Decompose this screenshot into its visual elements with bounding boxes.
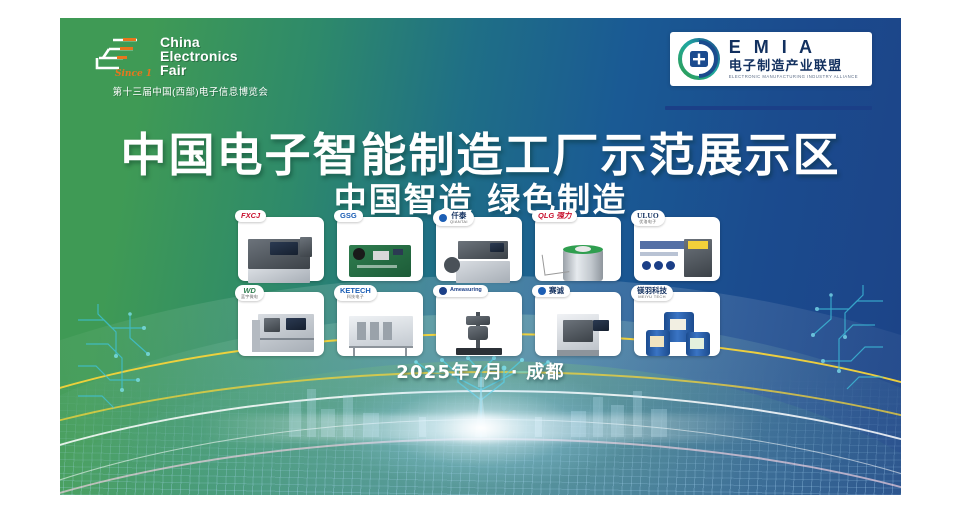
exhibitor-card[interactable]: QLG 强力 bbox=[535, 217, 621, 281]
exhibitor-badge: ULUO 优洛电子 bbox=[631, 210, 665, 226]
perspective-dot-grid bbox=[60, 371, 901, 495]
exhibitor-badge-sublabel: 蓝宇微电 bbox=[241, 295, 258, 299]
exhibitor-card[interactable]: GSG bbox=[337, 217, 423, 281]
exhibitor-product-image bbox=[442, 306, 516, 350]
emia-english: E M I A bbox=[729, 38, 858, 56]
emia-underline-bar bbox=[665, 106, 872, 110]
event-date: 2025年7月 · 成都 bbox=[60, 358, 901, 384]
poster-canvas: Since 1964 China Electronics Fair 第十三届中国… bbox=[60, 18, 901, 495]
cef-line-1: China bbox=[160, 35, 238, 49]
exhibitor-product-image bbox=[541, 231, 615, 275]
exhibitor-product-image bbox=[640, 306, 714, 350]
emia-wordmark: E M I A 电子制造产业联盟 ELECTRONIC MANUFACTURIN… bbox=[729, 38, 858, 79]
page-subtitle: 中国智造 绿色制造 bbox=[60, 173, 901, 221]
white-arc-lower bbox=[60, 419, 901, 495]
cef-wordmark: China Electronics Fair bbox=[160, 35, 238, 77]
cef-line-2: Electronics bbox=[160, 49, 238, 63]
cef-since-text: Since 1964 bbox=[115, 69, 151, 78]
exhibitor-badge-label: FXCJ bbox=[241, 212, 260, 220]
exhibitor-badge-icon bbox=[538, 287, 546, 295]
exhibitor-badge: 赛诚 bbox=[532, 285, 570, 297]
exhibitor-badge: GSG bbox=[334, 210, 363, 222]
cef-subtitle: 第十三届中国(西部)电子信息博览会 bbox=[93, 84, 288, 98]
emia-subtitle: ELECTRONIC MANUFACTURING INDUSTRY ALLIAN… bbox=[729, 75, 858, 79]
exhibitor-badge-sublabel: 科技电子 bbox=[347, 295, 364, 299]
exhibitor-badge-label: Ameasuring bbox=[450, 288, 482, 294]
center-glow bbox=[331, 368, 631, 488]
exhibitor-badge: KETECH 科技电子 bbox=[334, 285, 377, 301]
center-light-ray bbox=[201, 415, 761, 441]
exhibitor-badge: 仟泰 QIANTAI bbox=[433, 210, 474, 226]
exhibitor-product-image bbox=[442, 231, 516, 275]
exhibitor-badge-sublabel: QIANTAI bbox=[450, 220, 468, 224]
exhibitor-badge-sublabel: MEIYU TECH bbox=[638, 295, 666, 299]
exhibitor-card[interactable]: ULUO 优洛电子 bbox=[634, 217, 720, 281]
exhibitor-product-image bbox=[343, 306, 417, 350]
emia-mark-icon bbox=[678, 38, 720, 80]
exhibitor-badge-icon bbox=[439, 214, 447, 222]
exhibitor-badge-label: QLG 强力 bbox=[538, 212, 571, 220]
exhibitor-grid: FXCJ GSG bbox=[238, 217, 720, 356]
exhibitor-badge: FXCJ bbox=[235, 210, 266, 222]
cef-logo: Since 1964 China Electronics Fair 第十三届中国… bbox=[93, 34, 288, 98]
exhibitor-card[interactable]: KETECH 科技电子 bbox=[337, 292, 423, 356]
circuit-tree-icon bbox=[386, 342, 576, 438]
exhibitor-badge-label: 赛诚 bbox=[549, 287, 564, 295]
exhibitor-badge-icon bbox=[439, 287, 447, 295]
exhibitor-card[interactable]: 赛诚 bbox=[535, 292, 621, 356]
exhibitor-product-image bbox=[343, 231, 417, 275]
exhibitor-card[interactable]: WD 蓝宇微电 bbox=[238, 292, 324, 356]
cef-mark-icon: Since 1964 bbox=[93, 34, 151, 78]
exhibitor-badge-label: GSG bbox=[340, 212, 357, 220]
exhibitor-product-image bbox=[244, 231, 318, 275]
white-arc-upper bbox=[60, 390, 901, 495]
exhibitor-badge: 镁羽科技 MEIYU TECH bbox=[631, 285, 673, 301]
exhibitor-card[interactable]: Ameasuring bbox=[436, 292, 522, 356]
emia-chinese: 电子制造产业联盟 bbox=[729, 59, 858, 72]
exhibitor-badge-sublabel: 优洛电子 bbox=[639, 220, 656, 224]
exhibitor-card[interactable]: 仟泰 QIANTAI bbox=[436, 217, 522, 281]
exhibitor-product-image bbox=[244, 306, 318, 350]
exhibitor-card[interactable]: 镁羽科技 MEIYU TECH bbox=[634, 292, 720, 356]
exhibitor-product-image bbox=[640, 231, 714, 275]
exhibitor-badge: QLG 强力 bbox=[532, 210, 577, 222]
cef-line-3: Fair bbox=[160, 63, 238, 77]
exhibitor-product-image bbox=[541, 306, 615, 350]
pink-arc bbox=[60, 438, 901, 495]
exhibitor-card[interactable]: FXCJ bbox=[238, 217, 324, 281]
yellow-arc-lower bbox=[60, 371, 901, 495]
exhibitor-badge: Ameasuring bbox=[433, 285, 488, 297]
exhibitor-badge: WD 蓝宇微电 bbox=[235, 285, 264, 301]
emia-logo: E M I A 电子制造产业联盟 ELECTRONIC MANUFACTURIN… bbox=[670, 32, 872, 86]
